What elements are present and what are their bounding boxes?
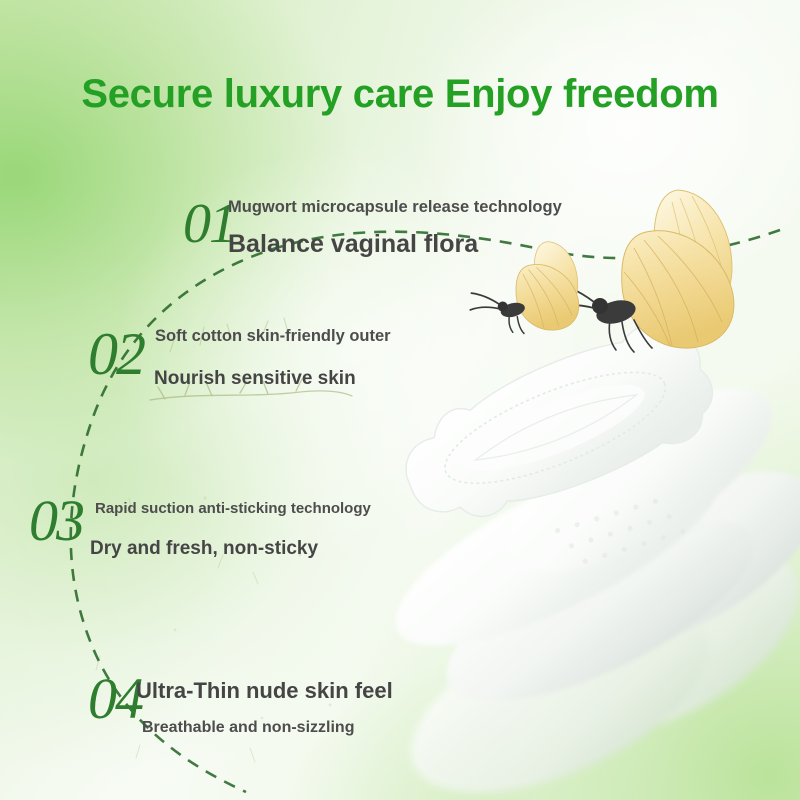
feature-number: 03 <box>29 492 83 550</box>
feature-subtitle: Mugwort microcapsule release technology <box>228 198 562 217</box>
feature-subtitle: Breathable and non-sizzling <box>142 719 354 737</box>
feature-heading: Balance vaginal flora <box>228 230 478 259</box>
feature-heading: Ultra-Thin nude skin feel <box>136 678 393 704</box>
feature-number: 02 <box>88 324 144 384</box>
feature-number: 04 <box>88 670 142 728</box>
feature-subtitle: Soft cotton skin-friendly outer <box>155 327 391 346</box>
feature-heading: Dry and fresh, non-sticky <box>90 538 318 560</box>
page-title: Secure luxury care Enjoy freedom <box>0 72 800 117</box>
feature-subtitle: Rapid suction anti-sticking technology <box>95 500 371 517</box>
product-poster: Secure luxury care Enjoy freedom 01 Mugw… <box>0 0 800 800</box>
feature-heading: Nourish sensitive skin <box>154 368 356 390</box>
